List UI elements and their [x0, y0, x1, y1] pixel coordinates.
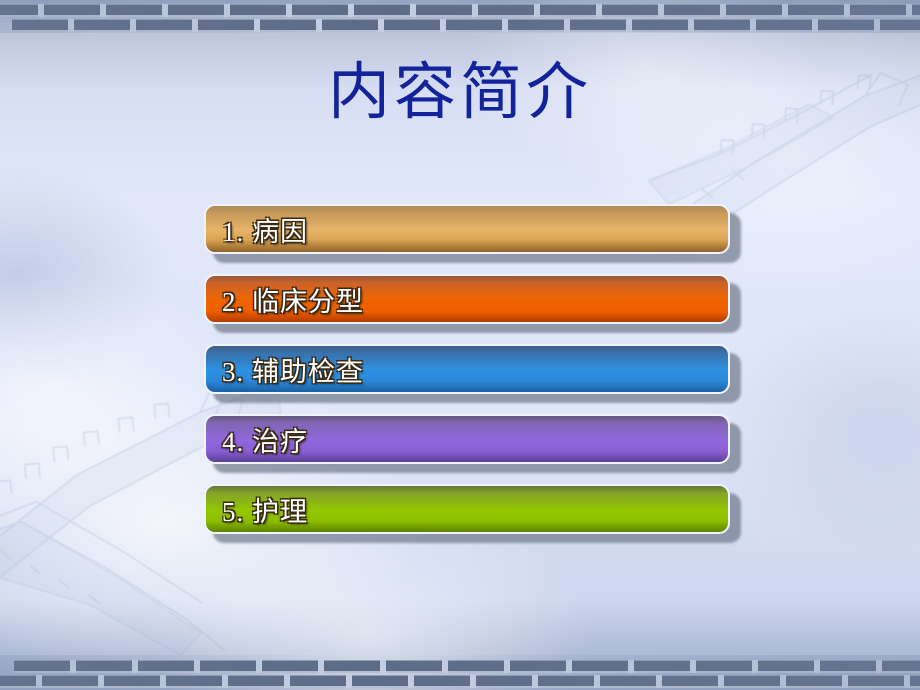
list-item[interactable]: 1. 病因 — [204, 204, 744, 256]
brick-row — [14, 660, 920, 673]
content-bar-5[interactable]: 5. 护理 — [204, 484, 730, 534]
content-bar-label: 3. 辅助检查 — [206, 350, 364, 389]
content-bar-4[interactable]: 4. 治疗 — [204, 414, 730, 464]
content-bar-3[interactable]: 3. 辅助检查 — [204, 344, 730, 394]
presentation-slide: 内容简介 1. 病因 2. 临床分型 3. 辅助检查 — [0, 0, 920, 690]
bottom-brick-border — [0, 655, 920, 690]
brick-row — [0, 4, 920, 17]
list-item[interactable]: 3. 辅助检查 — [204, 344, 744, 396]
brick-row — [0, 675, 920, 688]
top-brick-border — [0, 0, 920, 33]
contents-list: 1. 病因 2. 临床分型 3. 辅助检查 4. 治疗 — [204, 204, 744, 554]
content-bar-label: 5. 护理 — [206, 490, 308, 529]
content-bar-label: 1. 病因 — [206, 210, 308, 249]
content-bar-1[interactable]: 1. 病因 — [204, 204, 730, 254]
list-item[interactable]: 5. 护理 — [204, 484, 744, 536]
list-item[interactable]: 2. 临床分型 — [204, 274, 744, 326]
content-bar-label: 4. 治疗 — [206, 420, 308, 459]
list-item[interactable]: 4. 治疗 — [204, 414, 744, 466]
content-bar-label: 2. 临床分型 — [206, 280, 364, 319]
page-title: 内容简介 — [0, 55, 920, 131]
brick-row — [12, 19, 920, 32]
content-bar-2[interactable]: 2. 临床分型 — [204, 274, 730, 324]
